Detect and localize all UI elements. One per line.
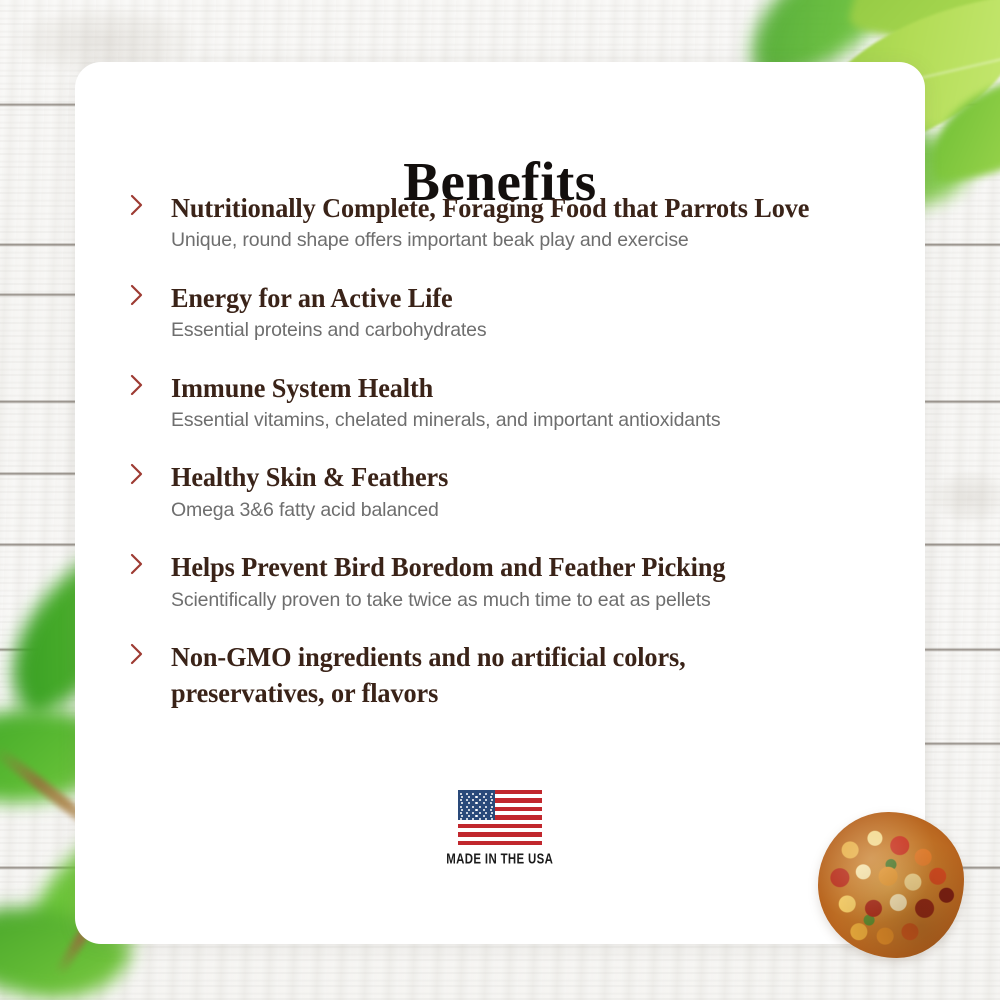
benefit-title: Non-GMO ingredients and no artificial co… [171,639,698,710]
list-item: Energy for an Active Life Essential prot… [121,280,903,344]
chevron-right-icon [127,641,147,667]
bird-food-ball-icon [818,812,964,958]
benefit-subtitle: Essential proteins and carbohydrates [171,318,903,343]
benefits-list: Nutritionally Complete, Foraging Food th… [121,190,903,736]
benefit-title: Helps Prevent Bird Boredom and Feather P… [171,549,870,584]
chevron-right-icon [127,372,147,398]
wood-knot [930,470,1000,524]
benefit-subtitle: Omega 3&6 fatty acid balanced [171,498,903,523]
made-in-usa-badge: MADE IN THE USA [75,790,925,866]
promo-image: Benefits Nutritionally Complete, Foragin… [0,0,1000,1000]
flag-canton [458,790,495,820]
benefit-title: Energy for an Active Life [171,280,870,315]
benefits-card: Benefits Nutritionally Complete, Foragin… [75,62,925,944]
chevron-right-icon [127,192,147,218]
chevron-right-icon [127,551,147,577]
list-item: Non-GMO ingredients and no artificial co… [121,639,903,710]
usa-flag-icon [458,790,542,845]
list-item: Immune System Health Essential vitamins,… [121,370,903,434]
list-item: Healthy Skin & Feathers Omega 3&6 fatty … [121,459,903,523]
benefit-subtitle: Unique, round shape offers important bea… [171,228,903,253]
chevron-right-icon [127,461,147,487]
benefit-title: Immune System Health [171,370,870,405]
benefit-title: Healthy Skin & Feathers [171,459,870,494]
chevron-right-icon [127,282,147,308]
benefit-subtitle: Essential vitamins, chelated minerals, a… [171,408,903,433]
benefit-title: Nutritionally Complete, Foraging Food th… [171,190,870,225]
made-in-usa-label: MADE IN THE USA [447,850,554,867]
list-item: Helps Prevent Bird Boredom and Feather P… [121,549,903,613]
ball-shading [818,812,964,958]
list-item: Nutritionally Complete, Foraging Food th… [121,190,903,254]
benefit-subtitle: Scientifically proven to take twice as m… [171,588,903,613]
